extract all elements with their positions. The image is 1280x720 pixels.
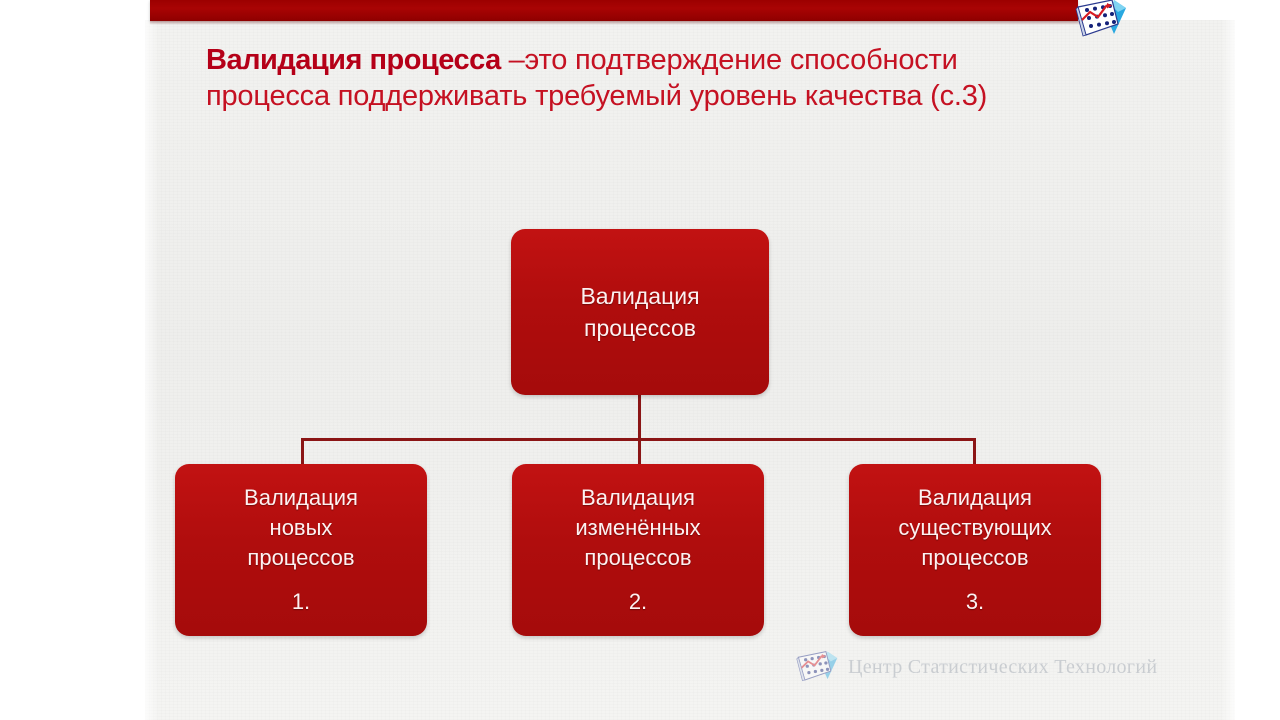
- slide: Валидация процесса –это подтверждение сп…: [0, 0, 1280, 720]
- chart-node-3-number: 3.: [966, 587, 984, 617]
- chart-node-changed-processes[interactable]: Валидация изменённых процессов 2.: [512, 464, 764, 636]
- chart-node-root[interactable]: Валидация процессов: [511, 229, 769, 395]
- chart-node-3-line-3: процессов: [921, 543, 1028, 573]
- watermark-cst-dice-chart-logo-icon: [795, 650, 839, 684]
- chart-node-root-line-1: Валидация: [580, 280, 699, 312]
- chart-node-3-line-2: существующих: [898, 513, 1051, 543]
- chart-node-2-line-2: изменённых: [575, 513, 700, 543]
- chart-node-root-line-2: процессов: [584, 312, 696, 344]
- chart-node-new-processes[interactable]: Валидация новых процессов 1.: [175, 464, 427, 636]
- chart-node-2-line-3: процессов: [584, 543, 691, 573]
- cst-dice-chart-logo-icon: [1074, 0, 1128, 40]
- chart-node-2-number: 2.: [629, 587, 647, 617]
- chart-node-1-line-1: Валидация: [244, 483, 358, 513]
- chart-node-1-line-3: процессов: [247, 543, 354, 573]
- top-red-band-shadow: [150, 21, 1080, 25]
- chart-node-3-line-1: Валидация: [918, 483, 1032, 513]
- watermark: Центр Статистических Технологий: [795, 650, 1157, 684]
- page-title-strong: Валидация процесса: [206, 44, 501, 76]
- chart-node-2-line-1: Валидация: [581, 483, 695, 513]
- chart-node-1-line-2: новых: [270, 513, 333, 543]
- page-title: Валидация процесса –это подтверждение сп…: [206, 42, 1066, 114]
- watermark-text: Центр Статистических Технологий: [848, 656, 1157, 679]
- chart-node-existing-processes[interactable]: Валидация существующих процессов 3.: [849, 464, 1101, 636]
- top-red-band: [150, 0, 1078, 21]
- chart-node-1-number: 1.: [292, 587, 310, 617]
